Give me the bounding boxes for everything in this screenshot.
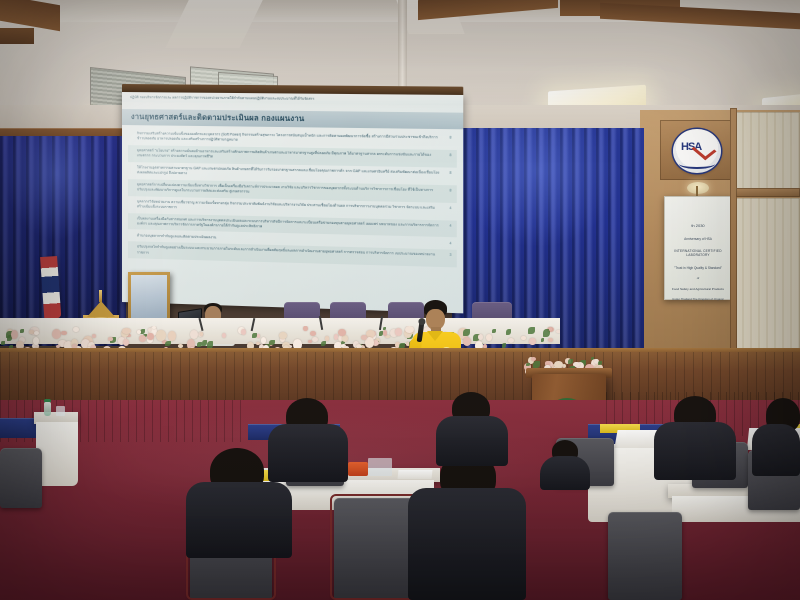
flower-bloom	[325, 336, 330, 341]
person-torso	[540, 456, 590, 490]
flower-bloom	[257, 334, 261, 337]
sign-line-5: of	[668, 276, 728, 280]
flower-bloom	[361, 335, 367, 340]
bottle-cap-icon	[44, 399, 51, 402]
slide-header-text: ปฏิบัติ กองบริหารจัดการและ ผลการปฏิบัติร…	[122, 92, 463, 105]
flower-bloom	[92, 334, 96, 338]
flower-bloom	[61, 331, 66, 336]
flower-bloom	[156, 330, 165, 341]
altar-roof	[87, 301, 115, 317]
altar-spire	[99, 290, 102, 302]
flower-leaf	[20, 329, 24, 333]
flower-bloom	[190, 330, 198, 339]
flower-leaf	[502, 343, 507, 348]
flower-bloom	[73, 327, 79, 333]
flower-bloom	[312, 337, 318, 342]
flower-leaf	[568, 359, 573, 364]
person-torso	[654, 422, 736, 480]
slide-title: งานยุทธศาสตร์และติดตามประเมินผล กองแผนงา…	[131, 111, 304, 125]
flower-bloom	[478, 334, 483, 340]
flower-leaf	[506, 329, 512, 335]
ceiling-wood-trim-1	[0, 0, 60, 31]
flower-bloom	[486, 334, 493, 341]
projection-screen-assembly: ปฏิบัติ กองบริหารจัดการและ ผลการปฏิบัติร…	[122, 92, 463, 313]
flower-leaf	[165, 341, 171, 347]
flower-bloom	[548, 338, 553, 342]
logo-arc	[679, 159, 715, 169]
flower-bloom	[395, 328, 402, 336]
slide-bullet-number: 4	[449, 206, 451, 210]
slide-bullet-number: 8	[449, 153, 451, 157]
slide-bullet-number: 4	[449, 223, 451, 227]
hsa-logo-icon: HSA	[673, 129, 721, 173]
window-frame-divider	[730, 108, 737, 370]
glass-set-icon	[368, 458, 392, 476]
audience-table-skirt	[36, 422, 78, 486]
water-bottle-icon	[44, 402, 51, 416]
document-paper	[398, 470, 433, 479]
sign-line-2: Anniversary of HSA	[668, 237, 728, 241]
flower-bloom	[308, 340, 312, 343]
flower-leaf	[252, 333, 256, 338]
sign-line-7: Under Thailand The Kingdom of Organic	[668, 297, 728, 301]
flower-bloom	[529, 338, 535, 345]
window-blind-upper	[736, 112, 800, 190]
flower-leaf	[492, 329, 496, 333]
slide-title-bar: งานยุทธศาสตร์และติดตามประเมินผล กองแผนงา…	[122, 109, 463, 129]
flower-leaf	[1, 341, 5, 344]
flower-leaf	[269, 340, 274, 346]
flower-bloom	[256, 342, 260, 345]
conference-room-photo: HSA th 2030 Anniversary of HSA INTERNATI…	[0, 0, 800, 600]
sign-line-3: INTERNATIONAL CERTIFIED LABORATORY	[668, 249, 728, 257]
person-torso	[436, 416, 508, 466]
slide-bullet-text: ปรับปรุงกลไกกำกับดูแลอย่างเป็นระบบ และกร…	[137, 245, 440, 264]
slide-bullet-number: 8	[449, 171, 451, 175]
slide-bullet-text: ยุทธศาสตร์ "นโยบาย" สร้างความมั่นคงด้านอ…	[137, 148, 440, 164]
glass-icon	[56, 406, 65, 416]
ceiling-wood-trim-5	[0, 28, 34, 44]
flower-bloom	[123, 339, 129, 346]
flower-bloom	[310, 331, 316, 336]
flower-bloom	[303, 326, 307, 331]
flower-leaf	[197, 342, 202, 347]
flower-bloom	[200, 332, 204, 336]
flower-leaf	[321, 341, 326, 347]
audience-chair-frame	[330, 494, 418, 600]
window-blind-lower	[736, 198, 800, 368]
flower-bloom	[556, 330, 560, 334]
snack-tray-icon	[348, 462, 368, 476]
person-torso	[408, 488, 526, 600]
person-torso	[268, 424, 348, 482]
wall-sign: th 2030 Anniversary of HSA INTERNATIONAL…	[664, 196, 732, 300]
flower-bloom	[383, 330, 387, 335]
flower-bloom	[521, 336, 525, 340]
flower-bloom	[168, 331, 176, 341]
slide-bullet-text: กิจกรรมเสริมสร้างความเข้มแข็งขององค์กรแล…	[137, 131, 440, 146]
flower-bloom	[52, 329, 61, 339]
flower-bloom	[531, 357, 536, 361]
slide-bullet-number: 8	[449, 136, 451, 140]
slide-bullet-number: 3	[449, 253, 451, 257]
projection-screen: ปฏิบัติ กองบริหารจัดการและ ผลการปฏิบัติร…	[122, 92, 463, 313]
flower-leaf	[598, 361, 602, 365]
flower-bloom	[139, 335, 146, 342]
flower-bloom	[279, 332, 287, 339]
person-torso	[186, 482, 292, 558]
slide-bullet-number: 8	[449, 188, 451, 192]
flower-bloom	[34, 331, 39, 335]
sign-line-4: "Trust in High Quality & Standard"	[668, 266, 728, 270]
flower-leaf	[533, 361, 539, 368]
flower-bloom	[241, 329, 246, 335]
flower-bloom	[222, 333, 226, 338]
sign-line-1: th 2030	[668, 223, 728, 228]
flower-bloom	[108, 337, 113, 341]
wall-lamp-stem	[696, 186, 698, 196]
flower-bloom	[33, 337, 39, 345]
slide-bullet-number: 4	[449, 241, 451, 245]
sign-line-6: Food Safety and Agricultural Products	[668, 287, 728, 291]
audience-chair	[0, 448, 42, 508]
flower-bloom	[549, 327, 553, 330]
person-torso	[752, 424, 800, 476]
audience-chair	[608, 512, 682, 600]
window-frame-rail	[736, 188, 800, 197]
flower-bloom	[152, 326, 156, 329]
flower-bloom	[147, 333, 153, 340]
flower-bloom	[508, 338, 515, 343]
wall-lamp-icon	[687, 182, 709, 194]
ceiling-beam-vertical	[398, 0, 407, 98]
flower-leaf	[541, 338, 544, 342]
flower-leaf	[528, 327, 535, 333]
flower-bloom	[11, 330, 18, 339]
slide-body: กิจกรรมเสริมสร้างความเข้มแข็งขององค์กรแล…	[122, 128, 463, 307]
flower-bloom	[261, 337, 266, 343]
flower-bloom	[338, 329, 346, 337]
